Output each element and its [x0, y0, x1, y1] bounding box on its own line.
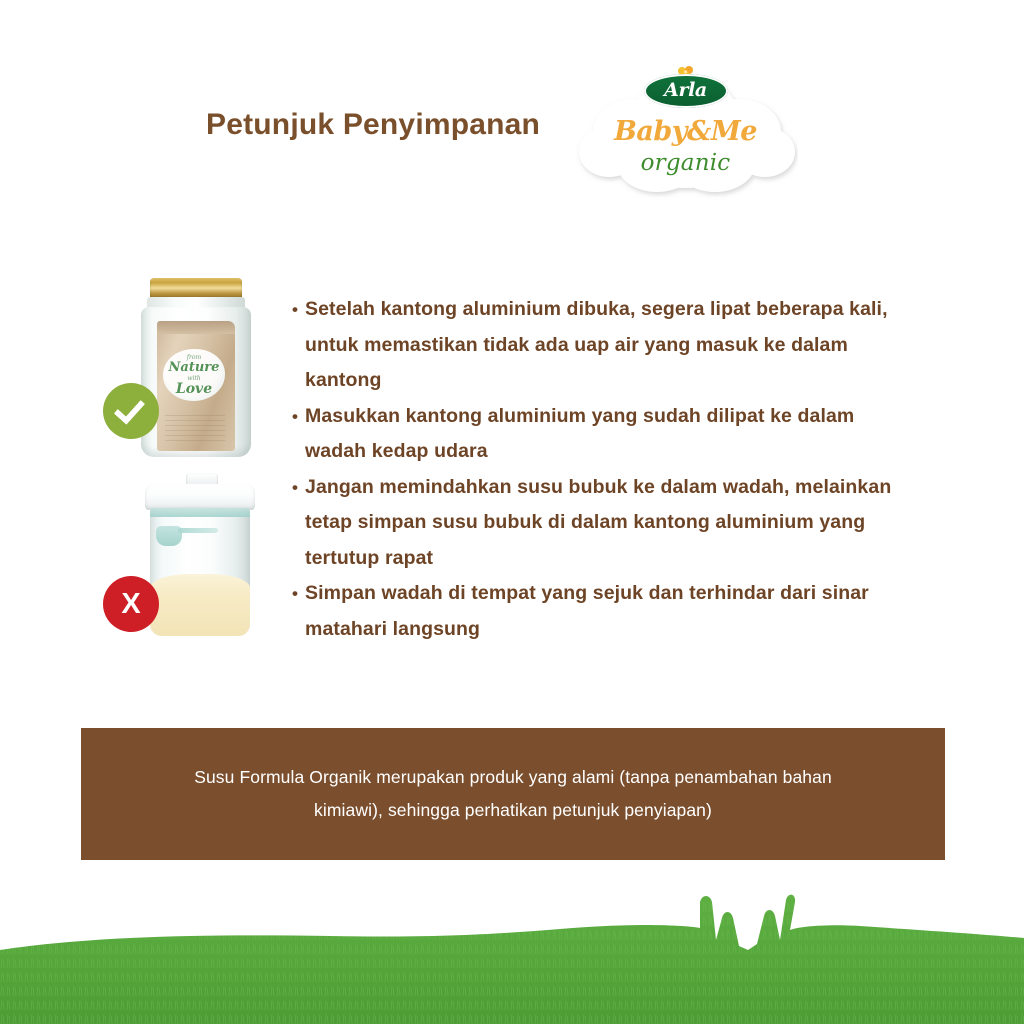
note-banner: Susu Formula Organik merupakan produk ya…	[81, 728, 945, 860]
container-seal-ring	[150, 508, 250, 517]
container-lid	[145, 484, 255, 510]
bullet-icon: •	[292, 470, 305, 506]
grass-footer	[0, 884, 1024, 1024]
aluminium-pouch: from Nature with Love	[157, 321, 235, 451]
arla-badge: Arla	[644, 74, 728, 108]
list-item-text: Jangan memindahkan susu bubuk ke dalam w…	[305, 470, 892, 577]
cross-icon: X	[121, 590, 140, 619]
arla-wordmark: Arla	[664, 81, 707, 100]
logo-organic-text: organic	[573, 150, 798, 176]
list-item: • Jangan memindahkan susu bubuk ke dalam…	[292, 470, 892, 577]
bullet-icon: •	[292, 576, 305, 612]
note-banner-text: Susu Formula Organik merupakan produk ya…	[163, 761, 863, 827]
jar-body: from Nature with Love	[141, 307, 251, 457]
logo-babyme-text: Baby&Me	[573, 116, 798, 147]
list-item-text: Simpan wadah di tempat yang sejuk dan te…	[305, 576, 892, 647]
pouch-label: from Nature with Love	[163, 349, 225, 401]
measuring-scoop-icon	[156, 520, 218, 546]
instruction-list: • Setelah kantong aluminium dibuka, sege…	[292, 292, 892, 647]
grass-hill-icon	[0, 884, 1024, 1024]
page-title: Petunjuk Penyimpanan	[206, 108, 540, 142]
pouch-label-nature: Nature	[169, 361, 220, 375]
list-item-text: Masukkan kantong aluminium yang sudah di…	[305, 399, 892, 470]
list-item: • Simpan wadah di tempat yang sejuk dan …	[292, 576, 892, 647]
pouch-label-love: Love	[176, 382, 212, 397]
check-icon	[114, 392, 145, 424]
status-badge-approved	[103, 383, 159, 439]
bullet-icon: •	[292, 292, 305, 328]
brand-logo: Arla Baby&Me organic	[573, 52, 798, 202]
list-item: • Masukkan kantong aluminium yang sudah …	[292, 399, 892, 470]
glass-jar-image: from Nature with Love	[132, 278, 260, 463]
status-badge-forbidden: X	[103, 576, 159, 632]
list-item: • Setelah kantong aluminium dibuka, sege…	[292, 292, 892, 399]
jar-lid	[150, 278, 242, 299]
milk-powder-fill	[150, 574, 250, 636]
bullet-icon: •	[292, 399, 305, 435]
container-body	[150, 508, 250, 636]
list-item-text: Setelah kantong aluminium dibuka, segera…	[305, 292, 892, 399]
pouch-text-lines	[165, 415, 225, 441]
scoop-handle	[178, 528, 218, 533]
